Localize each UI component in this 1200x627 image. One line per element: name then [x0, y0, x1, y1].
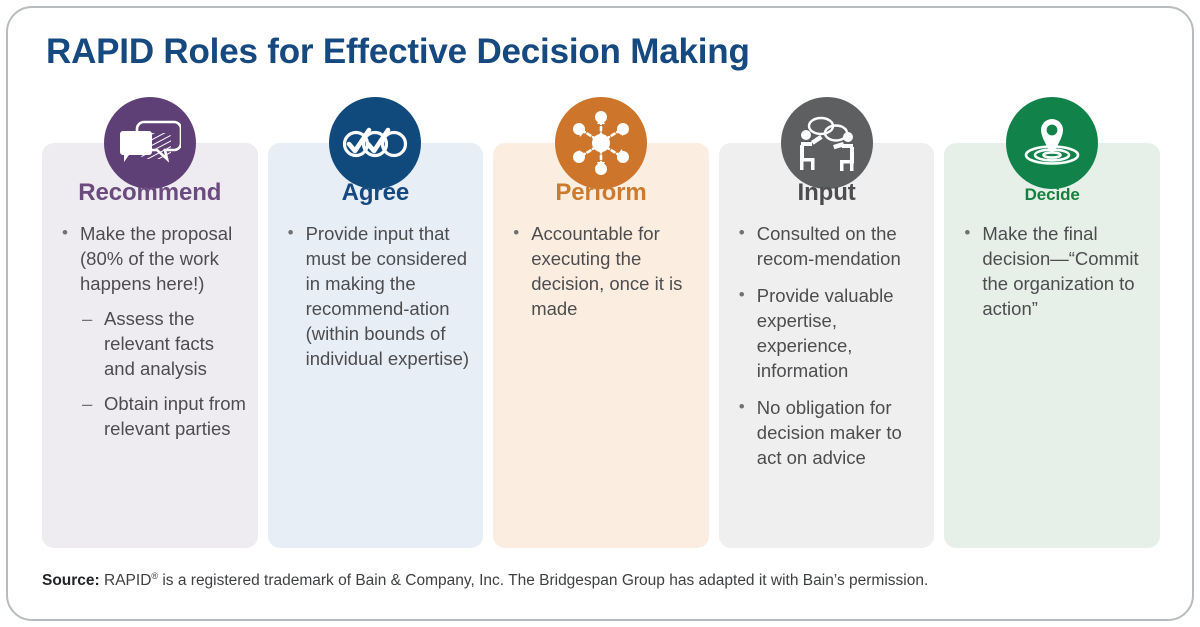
- sub-bullets: Assess the relevant facts and analysis O…: [80, 306, 248, 441]
- column-perform[interactable]: Perform Accountable for executing the de…: [493, 143, 709, 548]
- bullet-text: Make the proposal (80% of the work happe…: [80, 223, 232, 294]
- infographic-page: RAPID Roles for Effective Decision Makin…: [0, 0, 1200, 627]
- bullet-item: Provide input that must be considered in…: [282, 221, 474, 371]
- sub-bullet-item: Assess the relevant facts and analysis: [80, 306, 248, 381]
- decide-badge: [1006, 97, 1098, 189]
- heading-decide: Decide: [944, 185, 1160, 205]
- bullet-text: Make the final decision—“Commit the orga…: [982, 223, 1138, 319]
- heading-recommend: Recommend: [42, 179, 258, 207]
- heading-input: Input: [719, 179, 935, 207]
- bullet-item: No obligation for decision maker to act …: [733, 395, 925, 470]
- bullets-recommend: Make the proposal (80% of the work happe…: [56, 221, 248, 453]
- rapid-columns: Recommend Make the proposal (80% of the …: [42, 143, 1160, 548]
- bullets-decide: Make the final decision—“Commit the orga…: [958, 221, 1150, 333]
- page-title: RAPID Roles for Effective Decision Makin…: [46, 32, 750, 72]
- heading-agree: Agree: [268, 179, 484, 207]
- bullet-item: Provide valuable expertise, experience, …: [733, 283, 925, 383]
- bullets-input: Consulted on the recom-mendation Provide…: [733, 221, 925, 482]
- bullet-item: Consulted on the recom-mendation: [733, 221, 925, 271]
- column-recommend[interactable]: Recommend Make the proposal (80% of the …: [42, 143, 258, 548]
- source-footer: Source: RAPID® is a registered trademark…: [42, 566, 1160, 591]
- column-decide[interactable]: Decide Make the final decision—“Commit t…: [944, 143, 1160, 548]
- bullets-perform: Accountable for executing the decision, …: [507, 221, 699, 333]
- map-pin-ripple-icon: [1021, 114, 1083, 172]
- heading-perform: Perform: [493, 179, 709, 207]
- perform-badge: [555, 97, 647, 189]
- bullet-text: Provide input that must be considered in…: [306, 223, 470, 369]
- bullet-text: Consulted on the recom-mendation: [757, 223, 901, 269]
- bullets-agree: Provide input that must be considered in…: [282, 221, 474, 383]
- bullet-text: Accountable for executing the decision, …: [531, 223, 682, 319]
- recommend-badge: [104, 97, 196, 189]
- bullet-item: Make the proposal (80% of the work happe…: [56, 221, 248, 441]
- bullet-text: No obligation for decision maker to act …: [757, 397, 902, 468]
- speech-bubbles-icon: [119, 117, 181, 169]
- column-agree[interactable]: Agree Provide input that must be conside…: [268, 143, 484, 548]
- source-text-before: RAPID: [100, 572, 152, 589]
- source-text-after: is a registered trademark of Bain & Comp…: [158, 572, 928, 589]
- source-label: Source:: [42, 572, 100, 589]
- agree-badge: [329, 97, 421, 189]
- column-input[interactable]: Input Consulted on the recom-mendation P…: [719, 143, 935, 548]
- two-people-talking-icon: [792, 114, 862, 172]
- checkmarks-icon: [342, 126, 408, 160]
- bullet-text: Provide valuable expertise, experience, …: [757, 285, 894, 381]
- network-hub-icon: [567, 109, 635, 177]
- input-badge: [781, 97, 873, 189]
- bullet-item: Make the final decision—“Commit the orga…: [958, 221, 1150, 321]
- bullet-item: Accountable for executing the decision, …: [507, 221, 699, 321]
- sub-bullet-item: Obtain input from relevant parties: [80, 391, 248, 441]
